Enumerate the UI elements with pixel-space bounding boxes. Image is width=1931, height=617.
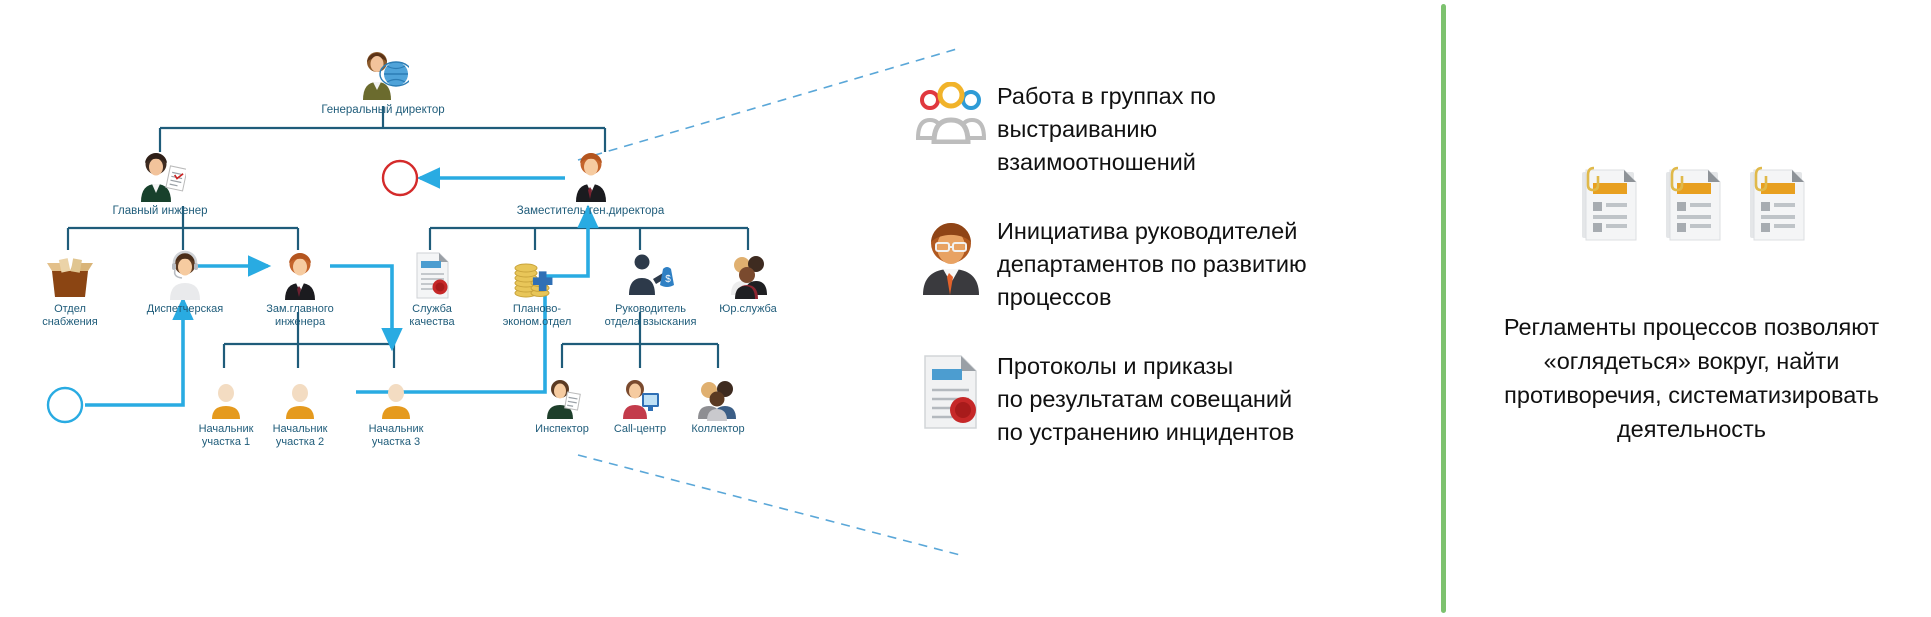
- org-node-legal[interactable]: Юр.служба: [683, 243, 813, 316]
- bullet-list: Работа в группах по выстраиванию взаимоо…: [905, 80, 1425, 485]
- person-headset-icon: [120, 243, 250, 301]
- bullet-item: Инициатива руководителей департаментов п…: [905, 215, 1425, 314]
- three-people-outline-icon: [905, 80, 997, 144]
- org-node-chief-engineer[interactable]: Главный инженер: [95, 145, 225, 218]
- org-node-label: Зам.главного инженера: [235, 303, 365, 328]
- bullet-text: Инициатива руководителей департаментов п…: [997, 215, 1307, 314]
- person-globe-icon: [318, 44, 448, 102]
- people-pair-icon: [653, 363, 783, 421]
- person-clipboard-icon: [95, 145, 225, 203]
- org-node-dispatch[interactable]: Диспетчерская: [120, 243, 250, 316]
- person-suit-dark-icon: [503, 145, 678, 203]
- org-node-label: Генеральный директор: [318, 104, 448, 117]
- org-node-site-3[interactable]: Начальник участка 3: [331, 363, 461, 448]
- org-node-label: Заместитель ген.директора: [503, 205, 678, 218]
- svg-text:$: $: [665, 274, 671, 285]
- org-chart: Генеральный директор: [0, 0, 900, 617]
- org-node-ceo[interactable]: Генеральный директор: [318, 44, 448, 117]
- open-box-icon: [5, 243, 135, 301]
- right-panel-caption: Регламенты процессов позволяют «оглядеть…: [1462, 310, 1921, 446]
- org-node-label: Отдел снабжения: [5, 303, 135, 328]
- org-node-deputy-director[interactable]: Заместитель ген.директора: [503, 145, 678, 218]
- vertical-divider: [1441, 4, 1446, 613]
- bullet-text: Протоколы и приказы по результатам совещ…: [997, 350, 1294, 449]
- right-panel: Регламенты процессов позволяют «оглядеть…: [1452, 0, 1931, 617]
- manager-avatar-icon: [905, 215, 997, 295]
- org-node-label: Коллектор: [653, 423, 783, 436]
- org-node-collector[interactable]: Коллектор: [653, 363, 783, 436]
- document-seal-icon: [905, 350, 997, 430]
- three-documents-clip-icon: [1452, 160, 1931, 246]
- org-node-deputy-engineer[interactable]: Зам.главного инженера: [235, 243, 365, 328]
- org-node-label: Юр.служба: [683, 303, 813, 316]
- blue-circle-marker: [48, 388, 82, 422]
- slide-canvas: Генеральный директор: [0, 0, 1931, 617]
- person-suit-icon: [235, 243, 365, 301]
- org-node-supply[interactable]: Отдел снабжения: [5, 243, 135, 328]
- org-node-label: Начальник участка 3: [331, 423, 461, 448]
- worker-icon: [331, 363, 461, 421]
- bullet-item: Работа в группах по выстраиванию взаимоо…: [905, 80, 1425, 179]
- red-circle-marker: [383, 161, 417, 195]
- people-group-icon: [683, 243, 813, 301]
- bullet-text: Работа в группах по выстраиванию взаимоо…: [997, 80, 1216, 179]
- org-node-label: Диспетчерская: [120, 303, 250, 316]
- bullet-item: Протоколы и приказы по результатам совещ…: [905, 350, 1425, 449]
- org-node-label: Главный инженер: [95, 205, 225, 218]
